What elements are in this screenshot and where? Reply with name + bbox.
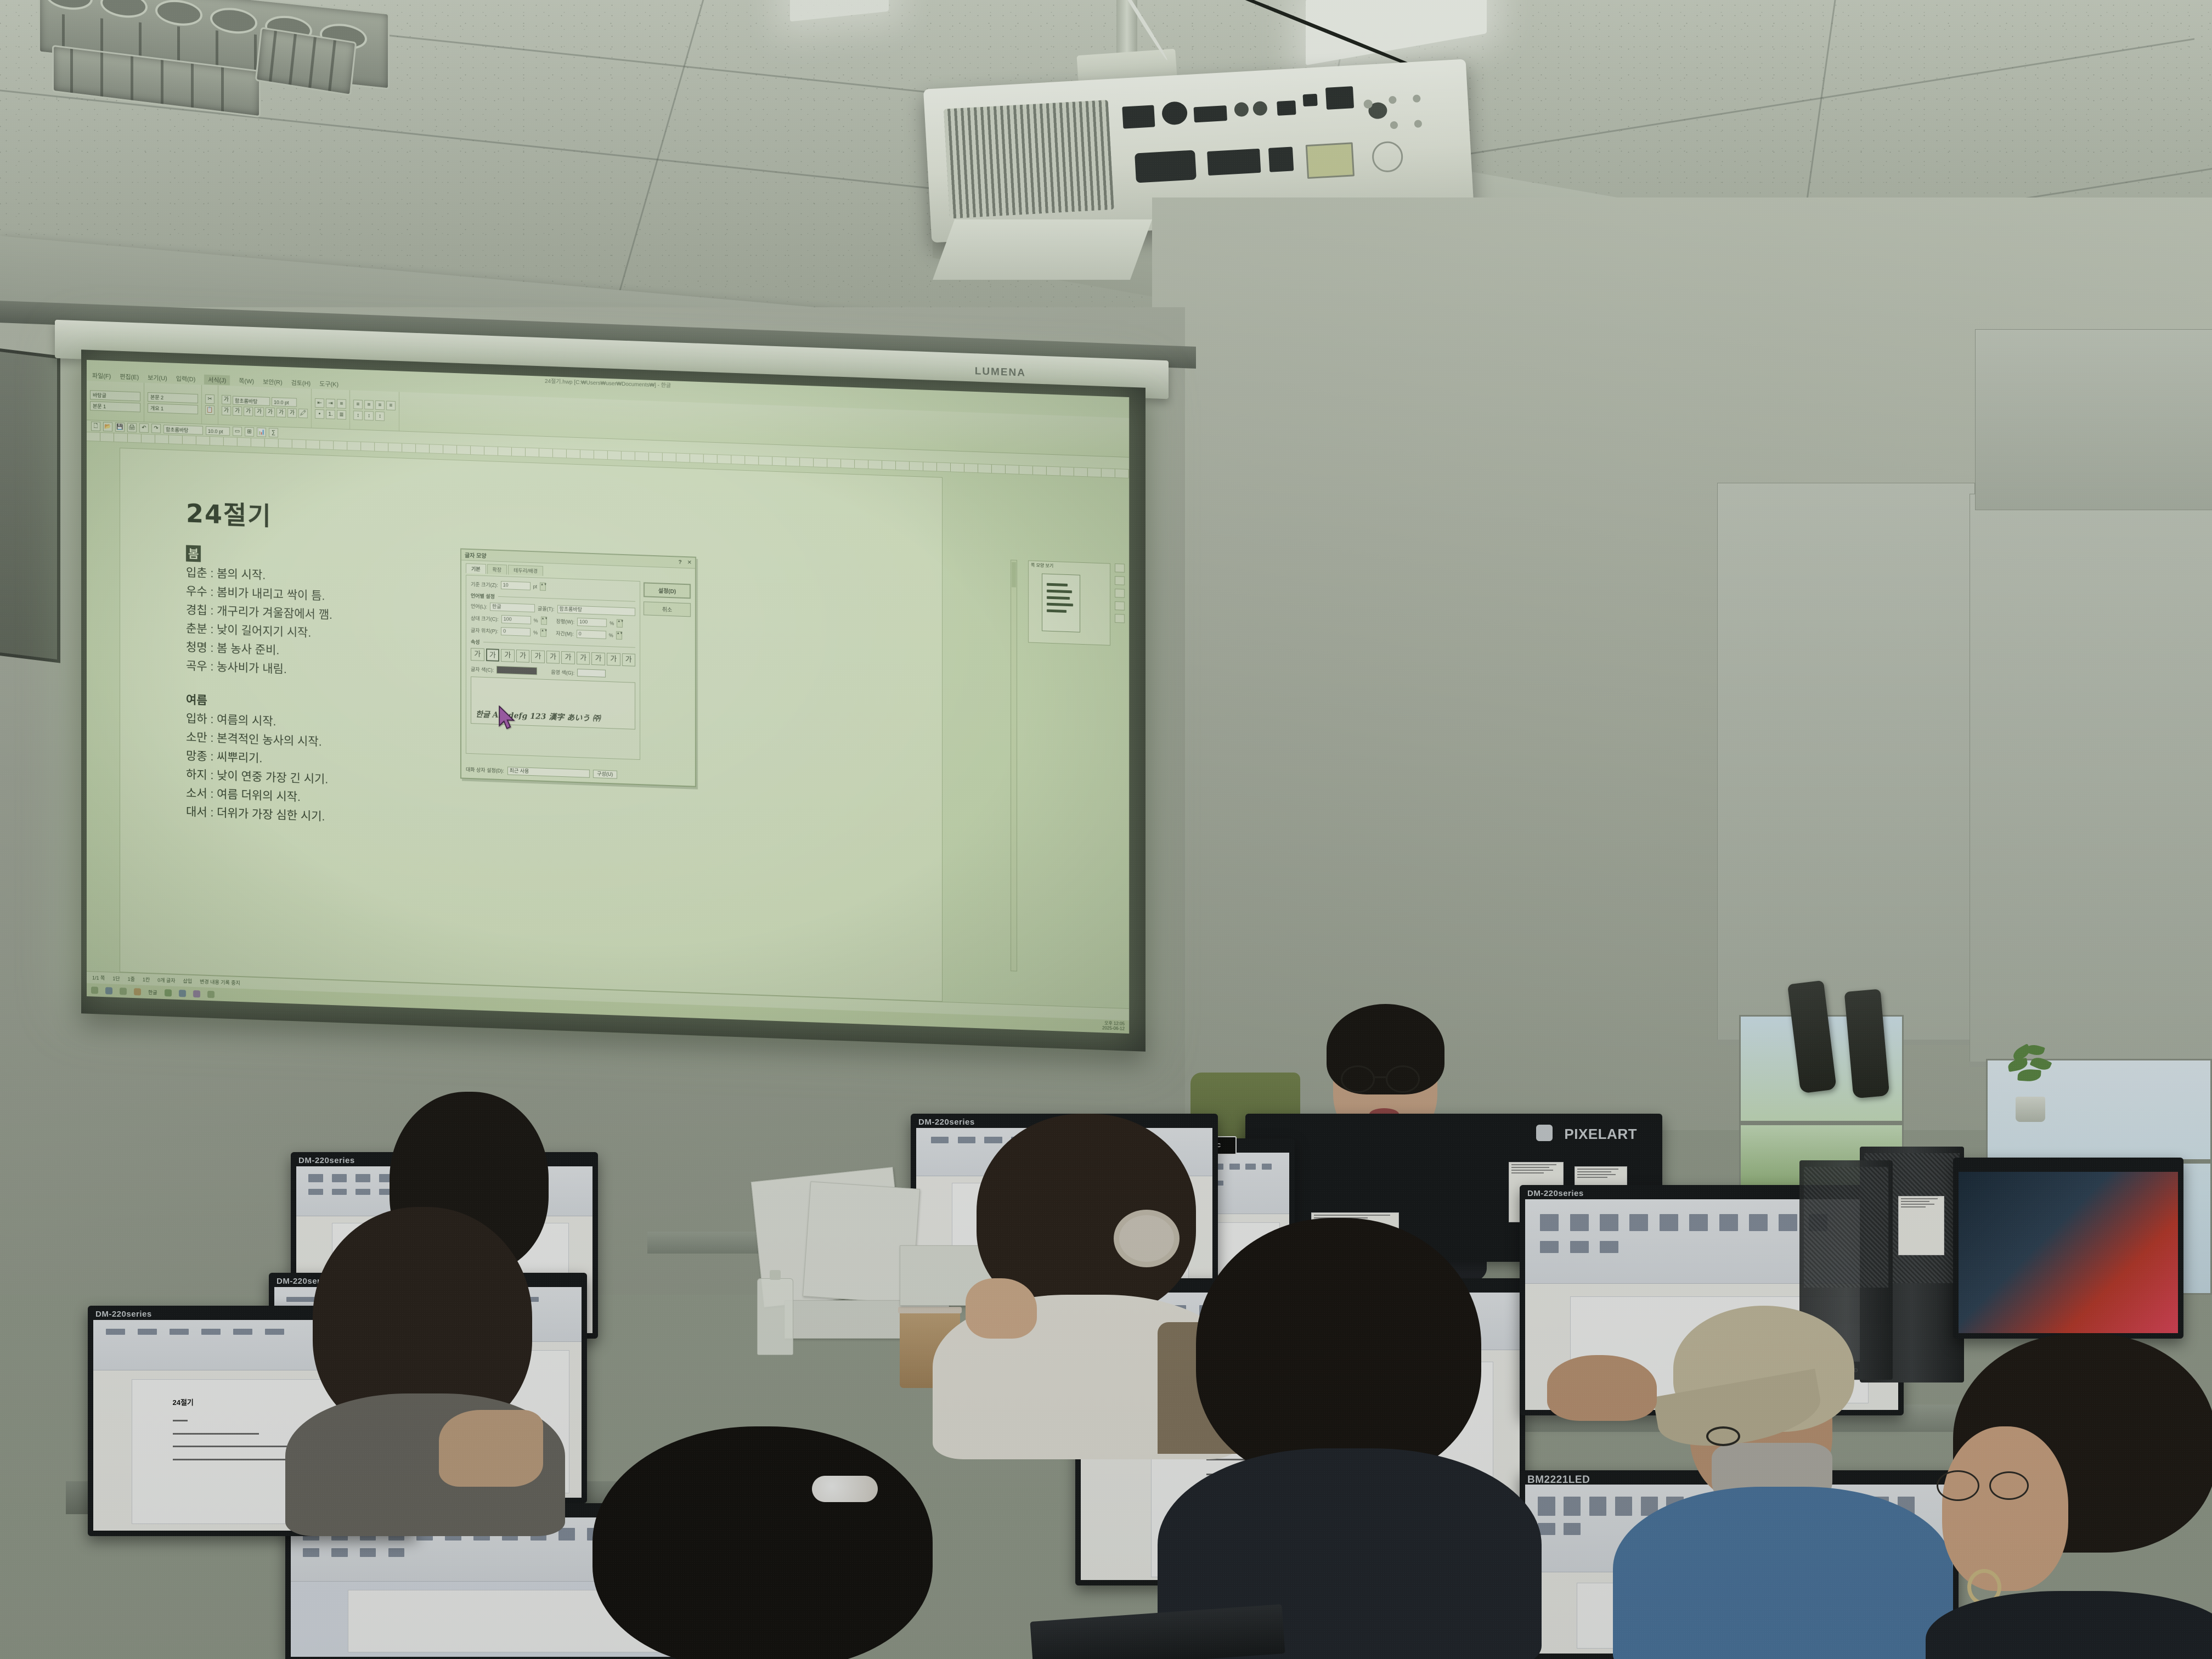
preview-text: 한글 Abcdefg 123 漢字 あいう ㈜	[476, 708, 600, 724]
classroom-photo: LUMENA 24절기.hwp [C:₩Users₩user₩Documents…	[0, 0, 2212, 1659]
language-select[interactable]: 한글	[490, 602, 535, 612]
attr-engrave-button[interactable]: 가	[577, 652, 590, 665]
dialog-preview-area: 한글 Abcdefg 123 漢字 あいう ㈜	[471, 676, 635, 730]
bold-icon[interactable]: 가	[222, 406, 231, 416]
relative-size-unit: %	[534, 618, 538, 623]
base-size-label: 기준 크기(Z):	[471, 580, 498, 589]
doc-line-thumb	[173, 1433, 259, 1435]
paste-icon[interactable]: 📋	[205, 405, 215, 415]
line-height-3-icon[interactable]: ↕	[375, 411, 385, 421]
shade-color-swatch[interactable]	[577, 669, 606, 678]
width-label: 장평(W):	[556, 618, 575, 625]
calculator-icon[interactable]	[193, 990, 200, 997]
align-left-icon[interactable]: ≡	[353, 399, 363, 409]
student-left-bob	[307, 1207, 538, 1514]
align-justify-icon[interactable]: ≡	[386, 401, 396, 411]
status-insert-mode: 삽입	[183, 977, 193, 985]
hwp-document-area[interactable]: 24절기 봄 입춘 : 봄의 시작. 우수 : 봄비가 내리고 싹이 틈. 경칩…	[87, 441, 1129, 1008]
redo-icon[interactable]: ↷	[151, 424, 161, 433]
plant-leaf	[2025, 1043, 2045, 1057]
style-item-2[interactable]: 본문 2	[148, 392, 198, 403]
sidebar-icon-styles[interactable]	[1115, 563, 1125, 573]
base-size-unit: pt	[533, 584, 538, 589]
monitor-brand-far-left: DM-220series	[95, 1310, 152, 1319]
underline-icon[interactable]: 가	[244, 407, 253, 416]
menu-item-view[interactable]: 보기(U)	[148, 373, 167, 382]
instructor-glasses	[1339, 1064, 1437, 1095]
dialog-settings-select[interactable]: 최근 사용	[507, 766, 590, 777]
menu-item-review[interactable]: 검토(H)	[291, 378, 311, 387]
start-icon[interactable]	[91, 986, 98, 994]
bullet-list-icon[interactable]: •	[315, 409, 324, 419]
student-bottom-right	[1915, 1333, 2212, 1659]
line-spacing-icon[interactable]: ≡	[337, 399, 346, 409]
align-right-icon[interactable]: ≡	[375, 400, 385, 410]
open-doc-icon[interactable]: 📂	[103, 422, 112, 432]
attr-underline-button[interactable]: 가	[516, 650, 530, 663]
attr-bold-button[interactable]: 가	[486, 648, 500, 662]
dialog-body: 기준 크기(Z): 10 pt ▲▼ 언어별 설정 언어(L): 한글	[466, 575, 640, 760]
monitor-brand-dm220-d: DM-220series	[1527, 1189, 1584, 1198]
indent-decrease-icon[interactable]: ⇤	[315, 398, 324, 408]
status-page: 1/1 쪽	[92, 974, 105, 981]
line-height-2-icon[interactable]: ↕	[364, 411, 374, 421]
font-style-icon[interactable]: 가	[222, 395, 231, 405]
undo-icon[interactable]: ↶	[139, 423, 149, 433]
status-char: 1칸	[143, 976, 150, 983]
menu-item-security[interactable]: 보안(R)	[263, 377, 283, 386]
right-sidebar-icons[interactable]	[1115, 563, 1126, 623]
sanitizer-pump	[770, 1270, 780, 1280]
cancel-button[interactable]: 취소	[644, 601, 691, 617]
student-center-right	[1196, 1218, 1503, 1657]
ribbon-group-align[interactable]: ≡ ≡ ≡ ≡ ↕ ↕ ↕	[350, 390, 399, 431]
menu-item-input[interactable]: 입력(D)	[176, 374, 196, 383]
student-center-scrunchie	[977, 1114, 1196, 1399]
monitor-far-right-photo[interactable]	[1953, 1158, 2183, 1339]
elderly-man-glasses	[1706, 1426, 1805, 1448]
tab-basic[interactable]: 기본	[466, 563, 486, 574]
status-column: 1단	[112, 975, 120, 982]
plant-leaf	[2017, 1069, 2041, 1082]
page-thumbnail-pane[interactable]: 쪽 모양 보기	[1028, 560, 1110, 645]
doc-line-thumb	[173, 1446, 295, 1447]
menu-item-edit[interactable]: 편집(E)	[120, 372, 139, 381]
configure-button[interactable]: 구성(U)	[593, 770, 617, 779]
hair-clip	[812, 1476, 878, 1502]
thumbnail-pane-title: 쪽 모양 보기	[1029, 561, 1110, 572]
glyph-color-swatch[interactable]	[496, 666, 537, 675]
outline-icon[interactable]: 가	[266, 408, 275, 417]
apply-button[interactable]: 설정(D)	[644, 582, 691, 599]
style-item-1[interactable]: 본문 1	[90, 401, 140, 412]
cup-lid	[898, 1307, 962, 1313]
attr-outline-button[interactable]: 가	[531, 650, 545, 663]
scrunchie	[1114, 1210, 1180, 1267]
page-thumbnail[interactable]	[1042, 573, 1080, 633]
new-doc-icon[interactable]: 🗋	[91, 421, 100, 431]
ribbon-group-font[interactable]: 가 함초롬바탕 10.0 pt 가 가 가 가 가 가 가 🖍	[218, 386, 312, 428]
base-size-row[interactable]: 기준 크기(Z): 10 pt ▲▼	[471, 580, 635, 594]
sidebar-icon-bookmark[interactable]	[1115, 601, 1125, 611]
relative-size-input[interactable]: 100	[501, 615, 531, 624]
search-icon[interactable]	[105, 987, 112, 994]
dialog-footer[interactable]: 대화 상자 설정(D): 최근 사용 구성(U)	[466, 765, 691, 782]
relative-size-label: 상대 크기(C):	[471, 614, 499, 623]
status-line: 1줄	[128, 975, 135, 983]
sidebar-icon-comments[interactable]	[1115, 614, 1125, 623]
char-position-spinner[interactable]: ▲▼	[540, 629, 546, 637]
student-doc-title-3: 24절기	[173, 1397, 194, 1407]
relative-size-spinner[interactable]: ▲▼	[541, 617, 547, 625]
projector-connector-panel	[1121, 76, 1457, 214]
monitor-sticker	[1898, 1196, 1944, 1255]
language-label: 언어(L):	[471, 602, 487, 610]
document-title: 24절기	[186, 493, 592, 544]
whiteboard	[0, 346, 60, 663]
shade-color-label: 음영 색(G):	[551, 668, 574, 676]
save-doc-icon[interactable]: 💾	[115, 422, 125, 432]
indent-increase-icon[interactable]: ⇥	[326, 399, 335, 409]
monitor-brand-pixelart: PIXELART	[1564, 1126, 1637, 1143]
width-unit: %	[610, 620, 614, 626]
potted-plant	[2008, 1045, 2053, 1122]
text-color-icon[interactable]: 가	[287, 408, 297, 418]
tower-mesh-vent-2	[1804, 1167, 1888, 1288]
dialog-action-buttons[interactable]: 설정(D) 취소	[644, 582, 691, 621]
mail-icon[interactable]	[179, 989, 186, 996]
font-attr-row[interactable]: 가 가 가 가 가 가 가 🖍	[222, 406, 308, 419]
student-hand-on-mouse	[1547, 1355, 1657, 1421]
student-elderly-man	[1651, 1278, 1937, 1659]
width-spinner[interactable]: ▲▼	[617, 619, 623, 628]
task-view-icon[interactable]	[120, 988, 127, 995]
student-body	[1613, 1487, 1953, 1659]
status-track-changes: 변경 내용 기록 중지	[200, 978, 240, 986]
ribbon-group-paragraph[interactable]: ⇤ ⇥ ≡ • 1. ≣	[312, 389, 350, 430]
style-item-0[interactable]: 바탕글	[90, 390, 140, 401]
attr-normal-button[interactable]: 가	[471, 648, 484, 661]
attr-subscript-button[interactable]: 가	[607, 653, 620, 666]
align-center-icon[interactable]: ≡	[364, 400, 374, 410]
superscript-icon[interactable]: 가	[276, 408, 286, 417]
monitor-brand-dm220-a: DM-220series	[298, 1156, 355, 1165]
file-explorer-icon[interactable]	[134, 988, 141, 995]
base-size-spinner[interactable]: ▲▼	[540, 583, 546, 591]
student-hair	[592, 1426, 933, 1659]
monitor-screen-far-right[interactable]	[1959, 1172, 2178, 1333]
window-mullion	[1741, 1121, 1902, 1125]
spacing-label: 자간(M):	[556, 630, 574, 637]
highlight-icon[interactable]: 🖍	[298, 409, 308, 419]
browser-icon[interactable]	[165, 989, 172, 996]
menu-item-file[interactable]: 파일(F)	[92, 371, 111, 380]
doc-line-thumb	[173, 1420, 188, 1421]
ribbon-group-styles[interactable]: 바탕글 본문 1	[87, 381, 144, 422]
tab-border-background[interactable]: 테두리/배경	[508, 565, 543, 575]
help-icon[interactable]: ?	[679, 560, 682, 566]
font-size-combo[interactable]: 10.0 pt	[272, 397, 297, 407]
char-position-unit: %	[533, 630, 538, 635]
projector-vent	[944, 100, 1114, 218]
spacing-input[interactable]: 0	[577, 630, 606, 639]
roller-blind-2[interactable]	[1970, 494, 2212, 1064]
attr-italic-button[interactable]: 가	[501, 649, 515, 662]
quick-font-combo[interactable]: 함초롬바탕	[163, 425, 203, 435]
char-position-input[interactable]: 0	[501, 627, 531, 636]
menu-item-page[interactable]: 쪽(W)	[239, 376, 254, 386]
roller-blind-3[interactable]	[1975, 329, 2212, 510]
sidebar-icon-search[interactable]	[1115, 589, 1125, 598]
menu-item-tools[interactable]: 도구(K)	[319, 379, 338, 388]
base-size-input[interactable]: 10	[501, 581, 531, 590]
outline-list-icon[interactable]: ≣	[337, 410, 346, 420]
equation-icon[interactable]: ∑	[269, 428, 278, 438]
print-icon[interactable]: 🖨	[127, 423, 137, 433]
char-position-row[interactable]: 글자 위치(P): 0 % ▲▼ 자간(M): 0 % ▲▼	[471, 626, 635, 640]
sidebar-icon-outline[interactable]	[1115, 576, 1125, 585]
line-height-1-icon[interactable]: ↕	[353, 410, 363, 420]
keyboard[interactable]	[1030, 1604, 1285, 1659]
attr-strikethrough-button[interactable]: 가	[622, 653, 636, 667]
attr-superscript-button[interactable]: 가	[591, 652, 605, 665]
projector-light-cone	[933, 219, 1152, 280]
menu-item-format[interactable]: 서식(J)	[204, 375, 230, 386]
student-hand	[966, 1278, 1037, 1339]
pixelart-logo-icon	[1536, 1125, 1553, 1141]
student-glasses	[1937, 1470, 2052, 1503]
dialog-settings-label: 대화 상자 설정(D):	[466, 766, 504, 774]
ribbon-group-clipboard[interactable]: ✂ 📋	[202, 385, 218, 425]
glyph-color-label: 글자 색(C):	[471, 665, 494, 674]
section-heading-spring: 봄	[186, 545, 201, 562]
font-select[interactable]: 함초롬바탕	[557, 605, 636, 616]
projection-screen: 24절기.hwp [C:₩Users₩user₩Documents₩] - 한글…	[87, 360, 1129, 1034]
student-scarf	[439, 1410, 543, 1487]
width-input[interactable]: 100	[577, 618, 607, 627]
number-list-icon[interactable]: 1.	[326, 410, 335, 420]
relative-size-row[interactable]: 상대 크기(C): 100 % ▲▼ 장평(W): 100 % ▲▼	[471, 614, 635, 628]
italic-icon[interactable]: 가	[233, 407, 242, 416]
dialog-title: 글자 모양	[465, 551, 487, 560]
roller-blind-1[interactable]	[1717, 483, 1975, 1042]
style-item-3[interactable]: 개요 1	[148, 403, 198, 414]
tab-extended[interactable]: 확장	[487, 564, 507, 574]
close-icon[interactable]: ✕	[687, 560, 692, 566]
quick-size-combo[interactable]: 10.0 pt	[206, 426, 230, 436]
student-bottom-center	[592, 1426, 933, 1659]
table-icon[interactable]: ⊞	[245, 427, 254, 437]
shape-icon[interactable]: ▭	[233, 427, 242, 437]
attr-shadow-button[interactable]: 가	[546, 651, 560, 664]
attr-emboss-button[interactable]: 가	[561, 651, 575, 664]
status-count: 0개 글자	[157, 977, 175, 984]
student-body	[1926, 1591, 2212, 1659]
spacing-unit: %	[609, 633, 613, 638]
plant-pot	[2016, 1097, 2045, 1122]
font-name-combo[interactable]: 함초롬바탕	[233, 396, 270, 405]
taskbar-app-label[interactable]: 한글	[148, 989, 157, 996]
monitor-brand-dm220-c: DM-220series	[918, 1118, 975, 1127]
attribute-button-row[interactable]: 가 가 가 가 가 가 가 가 가 가 가	[471, 648, 635, 667]
hand-sanitizer-bottle	[757, 1278, 793, 1355]
screen-brand-logo: LUMENA	[975, 365, 1026, 379]
spacing-spinner[interactable]: ▲▼	[616, 631, 622, 640]
character-shape-dialog[interactable]: 글자 모양 ? ✕ 기본 확장 테두리/배경 설정(D)	[460, 548, 696, 787]
student-hair	[1196, 1218, 1481, 1481]
document-page[interactable]: 24절기 봄 입춘 : 봄의 시작. 우수 : 봄비가 내리고 싹이 틈. 경칩…	[120, 448, 943, 1002]
char-position-label: 글자 위치(P):	[471, 627, 498, 635]
strikethrough-icon[interactable]: 가	[255, 407, 264, 417]
student-face	[1942, 1426, 2068, 1591]
font-label: 글꼴(T):	[538, 605, 555, 612]
hwp-application: 24절기.hwp [C:₩Users₩user₩Documents₩] - 한글…	[87, 360, 1129, 1034]
hwp-taskbar-icon[interactable]	[207, 990, 215, 997]
color-row[interactable]: 글자 색(C): 음영 색(G):	[471, 665, 635, 679]
chart-icon[interactable]: 📊	[257, 427, 266, 437]
cut-icon[interactable]: ✂	[205, 394, 215, 404]
vertical-scrollbar[interactable]	[1011, 560, 1017, 971]
taskbar-clock[interactable]: 오후 12:05 2025-06-12	[1102, 1021, 1125, 1031]
ribbon-group-styles-2[interactable]: 본문 2 개요 1	[144, 383, 202, 424]
